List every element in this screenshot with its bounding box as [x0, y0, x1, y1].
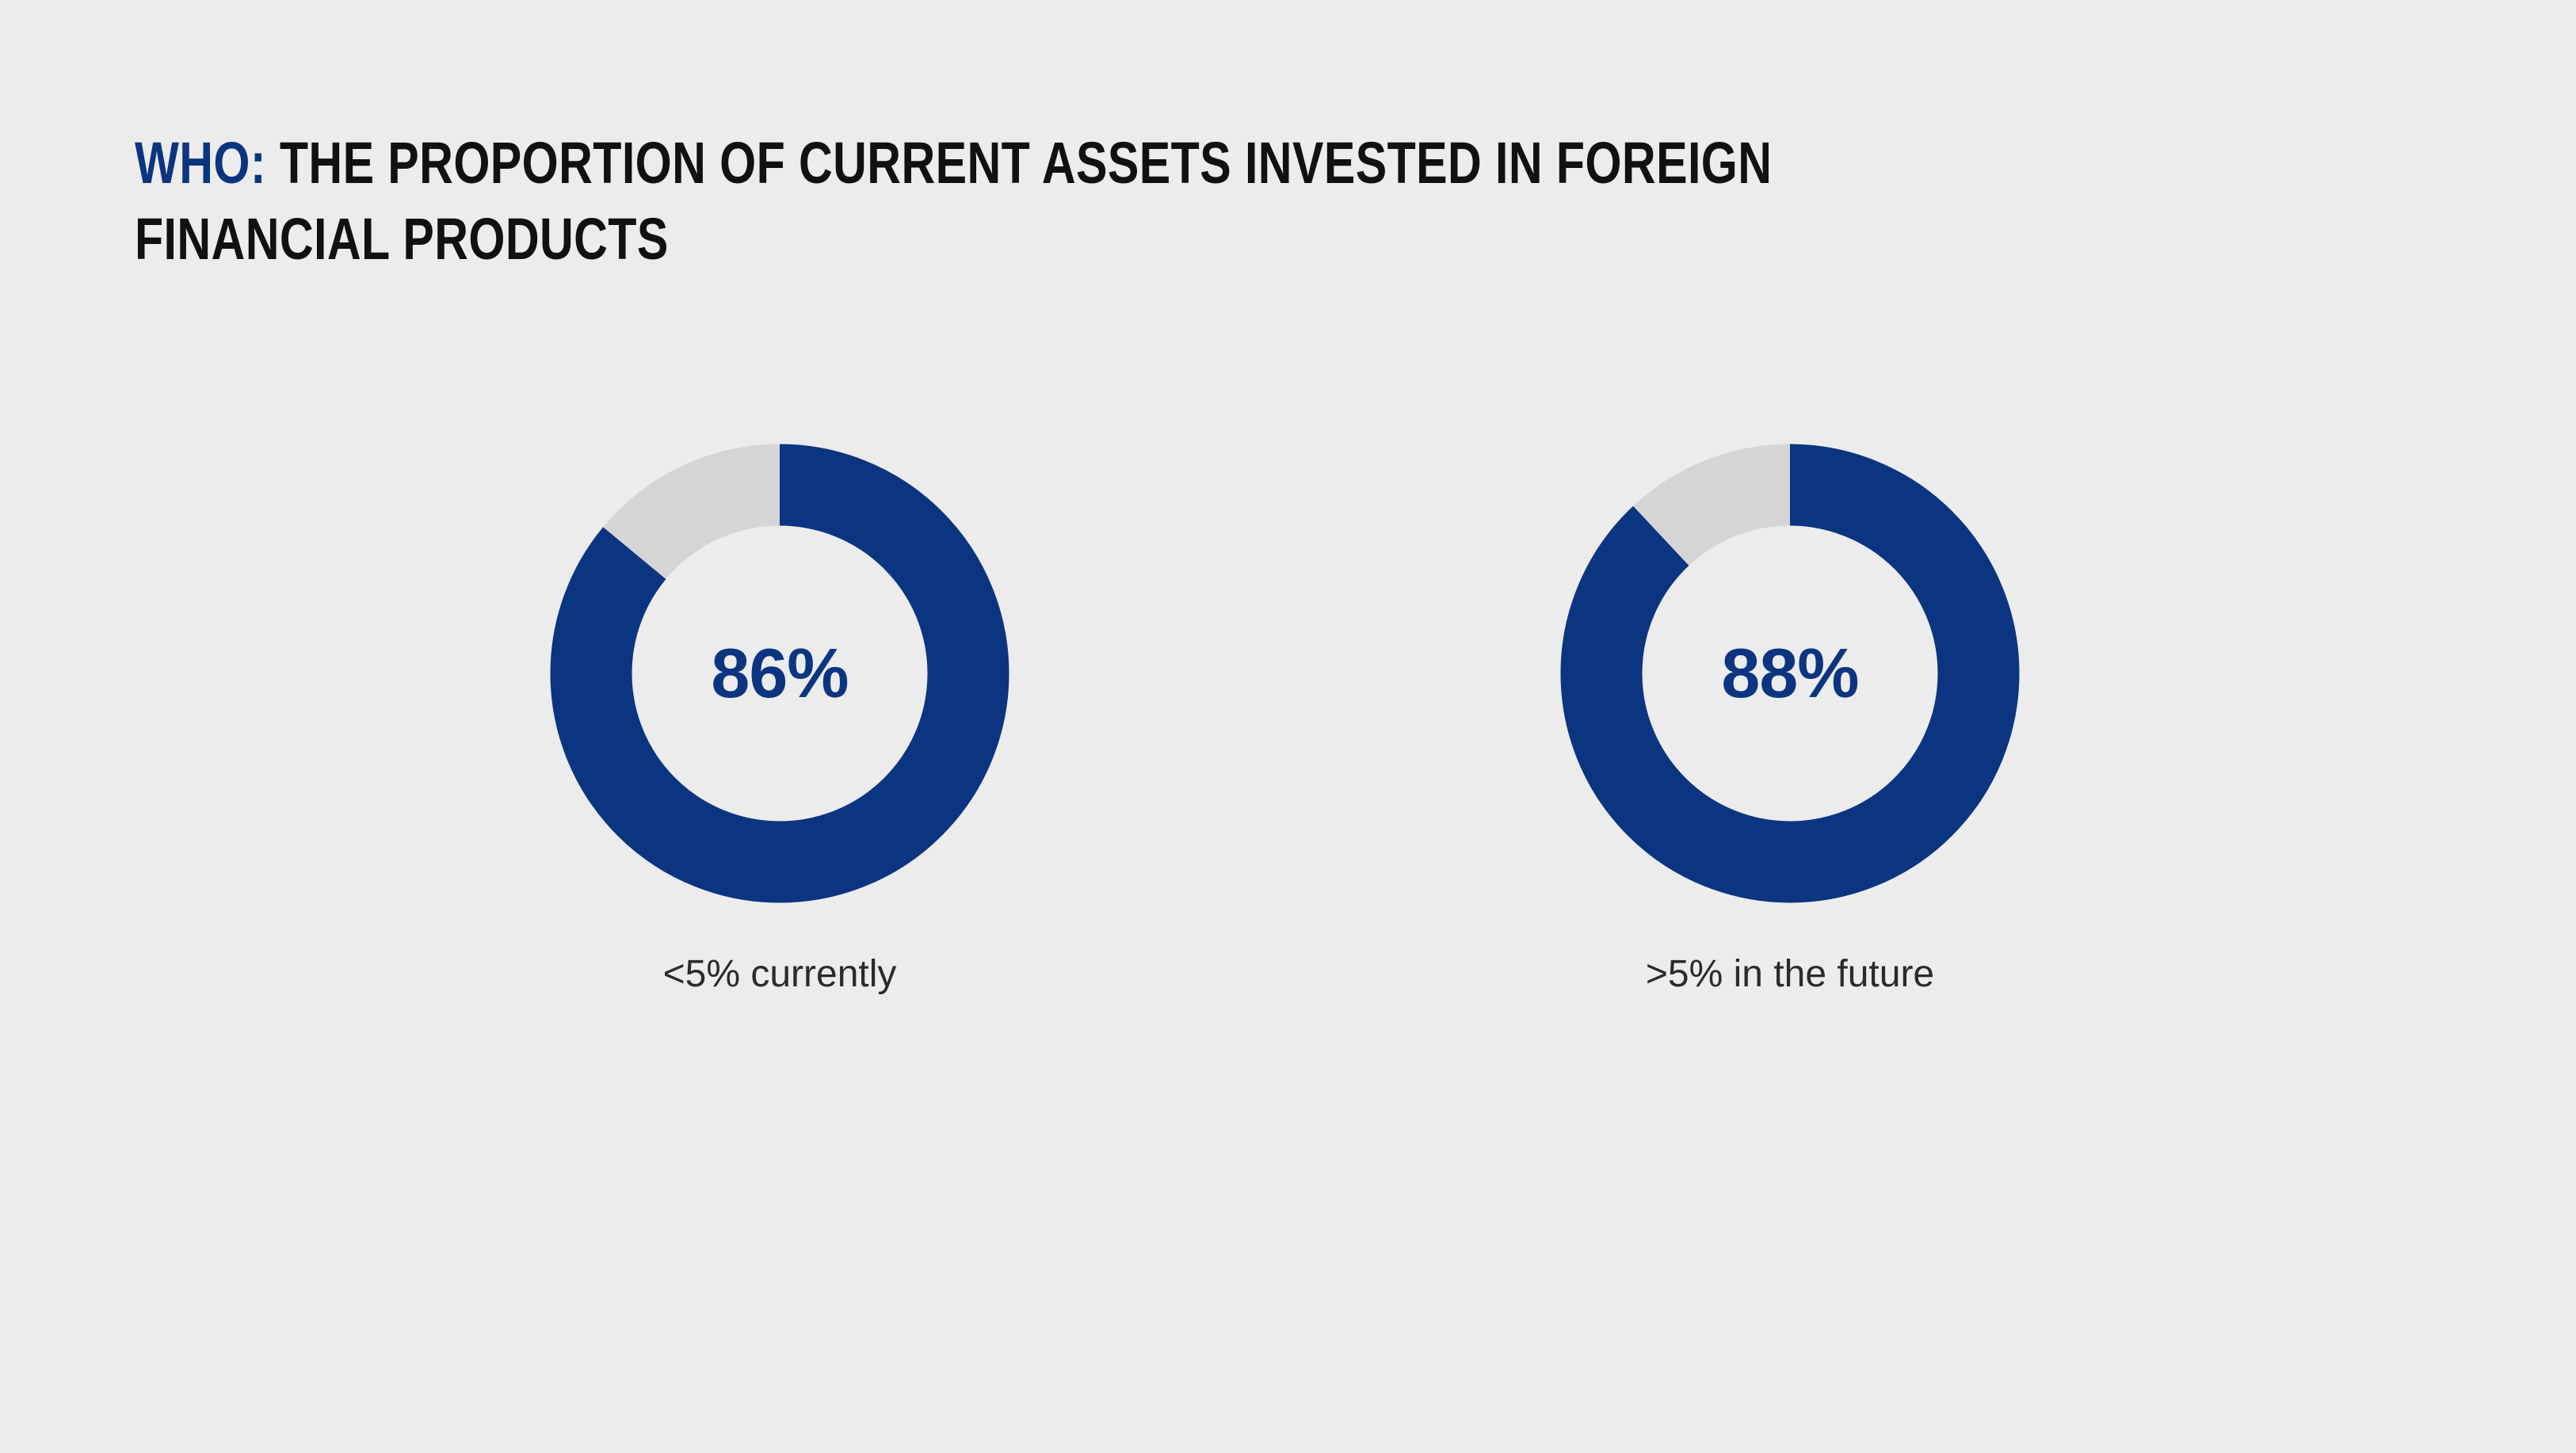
- donut-svg-future: [1560, 444, 2020, 903]
- donut-label-currently: <5% currently: [526, 952, 1033, 996]
- title-line-1-text: THE PROPORTION OF CURRENT ASSETS INVESTE…: [280, 130, 1773, 196]
- donut-arc-value: [1601, 485, 1979, 862]
- donut-chart-future: 88% >5% in the future: [1536, 444, 2044, 1077]
- donut-ring-currently: 86%: [550, 444, 1009, 903]
- title-prefix: WHO:: [135, 130, 266, 196]
- donut-chart-currently: 86% <5% currently: [526, 444, 1033, 1077]
- donut-ring-future: 88%: [1560, 444, 2020, 903]
- donut-svg-currently: [550, 444, 1009, 903]
- title-line-1: WHO: THE PROPORTION OF CURRENT ASSETS IN…: [135, 125, 1910, 201]
- donut-label-future: >5% in the future: [1536, 952, 2044, 996]
- donut-chart-group: 86% <5% currently 88% >5% in the future: [0, 444, 2576, 1093]
- page-title: WHO: THE PROPORTION OF CURRENT ASSETS IN…: [135, 125, 2353, 277]
- title-line-2: FINANCIAL PRODUCTS: [135, 201, 1910, 277]
